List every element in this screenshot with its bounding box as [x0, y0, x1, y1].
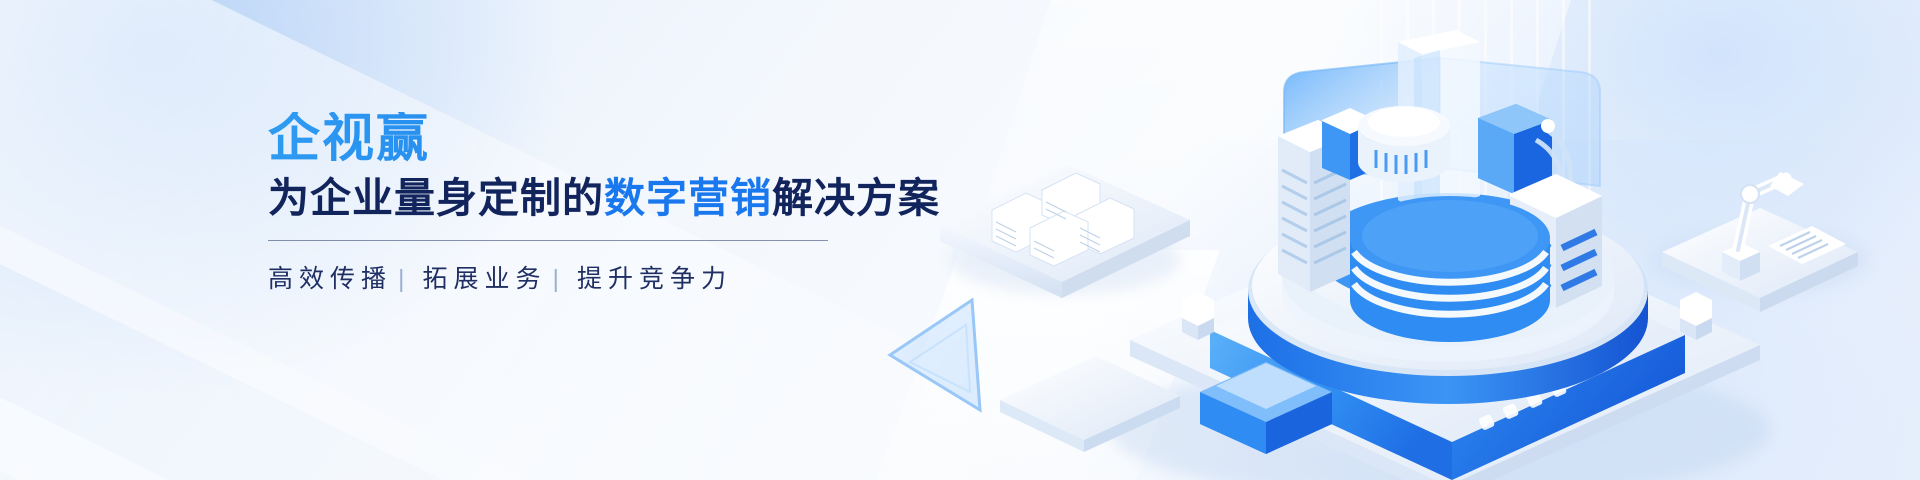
- hero-banner: 企视赢 为企业量身定制的数字营销解决方案 高效传播|拓展业务|提升竞争力: [0, 0, 1920, 480]
- data-tank: [1358, 106, 1450, 182]
- brand-title: 企视赢: [268, 112, 908, 166]
- base-pin-right: [1680, 292, 1712, 340]
- headline-prefix: 为企业量身定制的: [268, 175, 604, 221]
- diagonal-shape-4: [0, 470, 689, 480]
- tagline: 高效传播|拓展业务|提升竞争力: [268, 267, 908, 292]
- headline: 为企业量身定制的数字营销解决方案: [268, 174, 908, 222]
- glass-triangle-prism: [890, 300, 980, 410]
- base-pin-left: [1182, 292, 1214, 340]
- headline-highlight: 数字营销: [604, 175, 772, 221]
- hero-illustration: [880, 0, 1920, 480]
- tagline-separator-1: |: [398, 265, 411, 293]
- tagline-separator-2: |: [553, 265, 566, 293]
- divider-rule: [268, 240, 828, 241]
- pipe-cap: [1541, 119, 1555, 133]
- ribbed-disc: [1350, 196, 1550, 342]
- robotic-arm-module: [1662, 172, 1858, 312]
- glass-block-right: [1478, 104, 1552, 194]
- diagonal-shape-3: [0, 300, 789, 480]
- tagline-item-1: 高效传播: [268, 265, 392, 293]
- hero-copy: 企视赢 为企业量身定制的数字营销解决方案 高效传播|拓展业务|提升竞争力: [268, 112, 908, 292]
- tagline-item-2: 拓展业务: [423, 265, 547, 293]
- tagline-item-3: 提升竞争力: [577, 265, 732, 293]
